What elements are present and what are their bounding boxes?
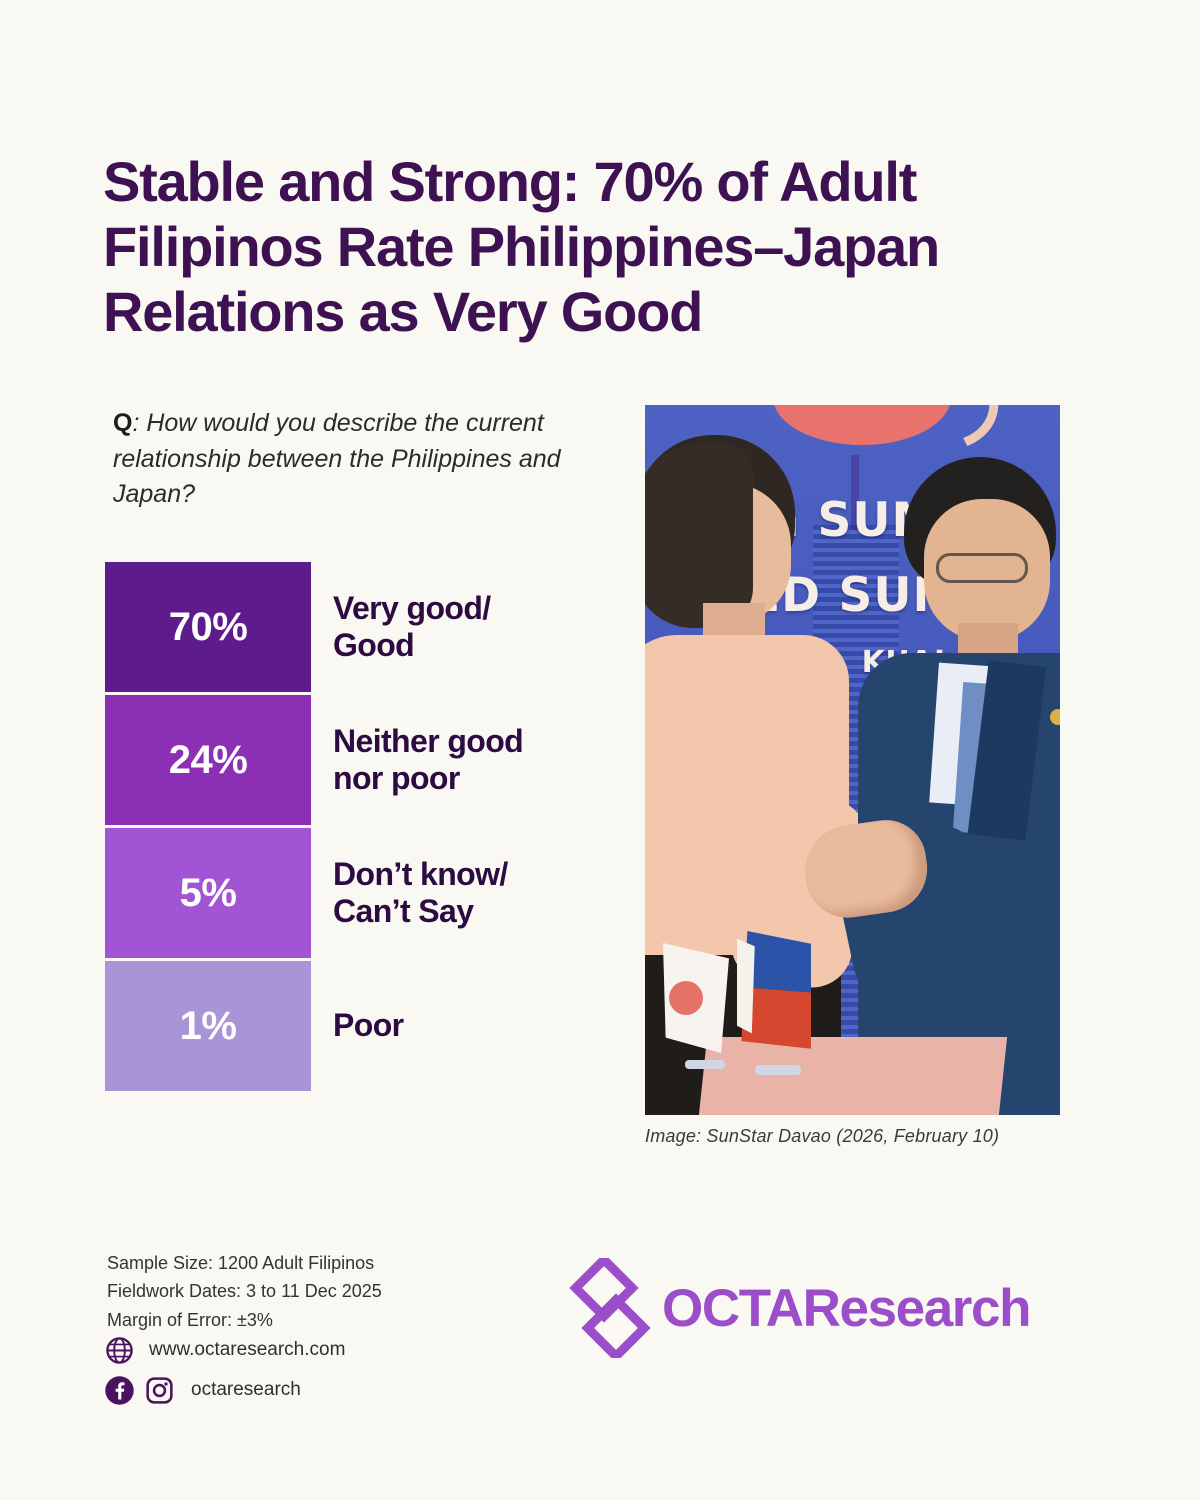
website-row[interactable]: www.octaresearch.com (103, 1333, 345, 1367)
photo-canvas: an SUM TED SUM 8 2025, KUALA (645, 405, 1060, 1115)
contact-links: www.octaresearch.com octaresearch (103, 1333, 345, 1413)
question-prefix: Q (113, 409, 132, 437)
bar-category-label: Neither good nor poor (311, 695, 615, 825)
social-handle[interactable]: octaresearch (191, 1379, 301, 1401)
photo-credit: Image: SunStar Davao (2026, February 10) (645, 1126, 999, 1147)
octa-research-logo: OCTAResearch (562, 1258, 1030, 1358)
page-title: Stable and Strong: 70% of Adult Filipino… (103, 150, 1093, 345)
globe-icon (103, 1334, 135, 1366)
survey-metadata: Sample Size: 1200 Adult Filipinos Fieldw… (107, 1249, 382, 1334)
eyeglasses-icon (936, 553, 1028, 583)
table-row: 1% Poor (105, 961, 615, 1091)
table-row: 24% Neither good nor poor (105, 695, 615, 825)
octa-diamond-logo-icon (562, 1258, 658, 1358)
bar-block: 1% (105, 961, 311, 1091)
japan-flag-icon (663, 943, 729, 1053)
bar-value: 24% (169, 738, 248, 783)
bar-value: 1% (180, 1004, 237, 1049)
survey-question: Q: How would you describe the current re… (113, 406, 613, 513)
bar-value: 5% (180, 871, 237, 916)
bar-block: 5% (105, 828, 311, 958)
social-row[interactable]: octaresearch (103, 1373, 345, 1407)
facebook-icon[interactable] (103, 1374, 135, 1406)
bar-category-label: Very good/ Good (311, 562, 615, 692)
bar-value: 70% (169, 605, 248, 650)
fieldwork-dates: Fieldwork Dates: 3 to 11 Dec 2025 (107, 1277, 382, 1305)
octa-research-wordmark: OCTAResearch (662, 1278, 1030, 1339)
person-left-hair-front (645, 443, 753, 628)
flag-stand-japan (685, 1060, 725, 1069)
question-text: : How would you describe the current rel… (113, 409, 561, 508)
bar-block: 70% (105, 562, 311, 692)
table-row: 70% Very good/ Good (105, 562, 615, 692)
sample-size: Sample Size: 1200 Adult Filipinos (107, 1249, 382, 1277)
table-row: 5% Don’t know/ Can’t Say (105, 828, 615, 958)
summit-photo: an SUM TED SUM 8 2025, KUALA (645, 405, 1060, 1115)
flag-stand-philippines (755, 1065, 801, 1075)
person-right-figure (842, 457, 1060, 1115)
website-url[interactable]: www.octaresearch.com (149, 1339, 345, 1361)
philippines-flag-icon (737, 931, 811, 1059)
lapel-pin-icon (1050, 709, 1060, 725)
bar-category-label: Don’t know/ Can’t Say (311, 828, 615, 958)
margin-of-error: Margin of Error: ±3% (107, 1306, 382, 1334)
bar-block: 24% (105, 695, 311, 825)
results-bar-chart: 70% Very good/ Good 24% Neither good nor… (105, 562, 615, 1094)
instagram-icon[interactable] (143, 1374, 175, 1406)
bar-category-label: Poor (311, 961, 615, 1091)
